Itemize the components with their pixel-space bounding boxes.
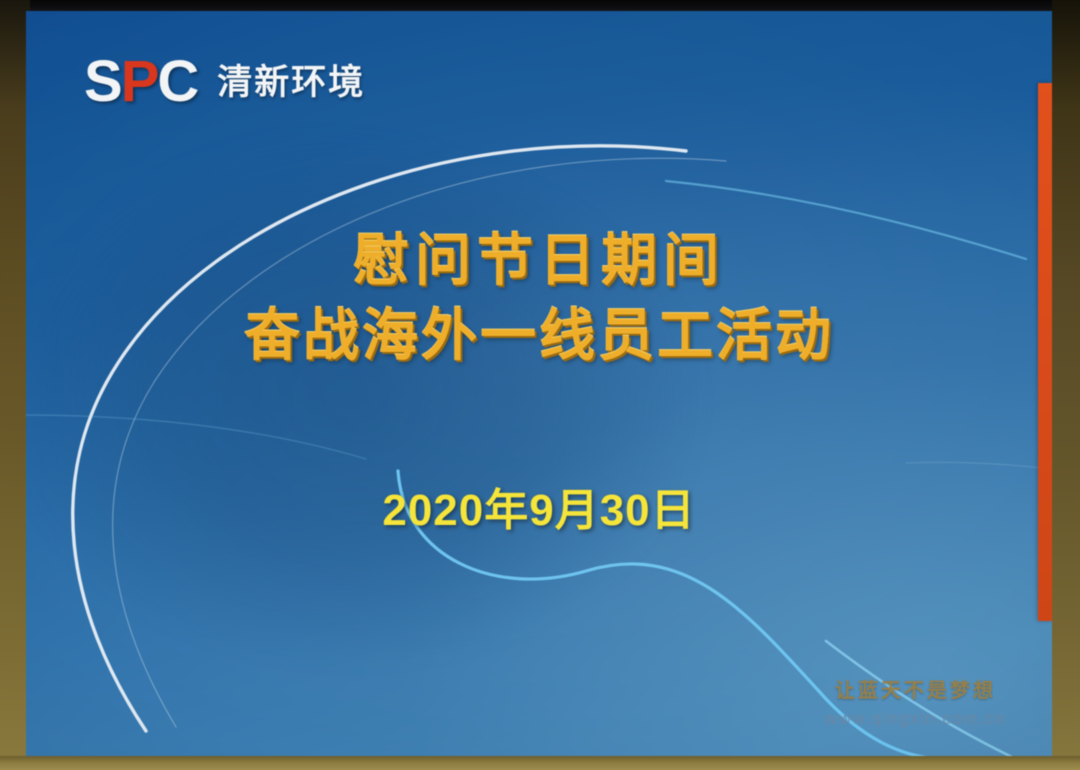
arc-right-faint-streak bbox=[906, 462, 1050, 469]
projected-slide-photo: SPC 清新环境 慰问节日期间 奋战海外一线员工活动 2020年9月30日 让蓝… bbox=[0, 0, 1080, 770]
slide-title: 慰问节日期间 奋战海外一线员工活动 bbox=[26, 223, 1052, 373]
slide-footer: 让蓝天不是梦想 www.qingxin.com.cn bbox=[825, 674, 1006, 729]
logo-company-name: 清新环境 bbox=[217, 65, 365, 100]
arc-lower-left-cyan bbox=[26, 415, 366, 459]
decorative-swoosh-arcs bbox=[26, 11, 1052, 759]
logo-letter-s: S bbox=[84, 49, 121, 114]
logo-wordmark: SPC bbox=[84, 53, 197, 111]
title-line-2: 奋战海外一线员工活动 bbox=[26, 298, 1052, 373]
wall-bottom bbox=[0, 756, 1080, 770]
slide-date: 2020年9月30日 bbox=[26, 474, 1052, 538]
background-shadow-lobe bbox=[26, 129, 706, 689]
logo-letter-p: P bbox=[121, 49, 158, 114]
footer-slogan: 让蓝天不是梦想 bbox=[825, 674, 1006, 703]
footer-url: www.qingxin.com.cn bbox=[825, 709, 1006, 729]
logo-letter-c: C bbox=[157, 49, 197, 114]
brand-logo: SPC 清新环境 bbox=[84, 53, 365, 111]
title-line-1: 慰问节日期间 bbox=[26, 223, 1052, 298]
projector-vignette bbox=[26, 11, 1052, 759]
wall-right bbox=[1052, 0, 1080, 770]
slide-canvas: SPC 清新环境 慰问节日期间 奋战海外一线员工活动 2020年9月30日 让蓝… bbox=[26, 11, 1052, 759]
